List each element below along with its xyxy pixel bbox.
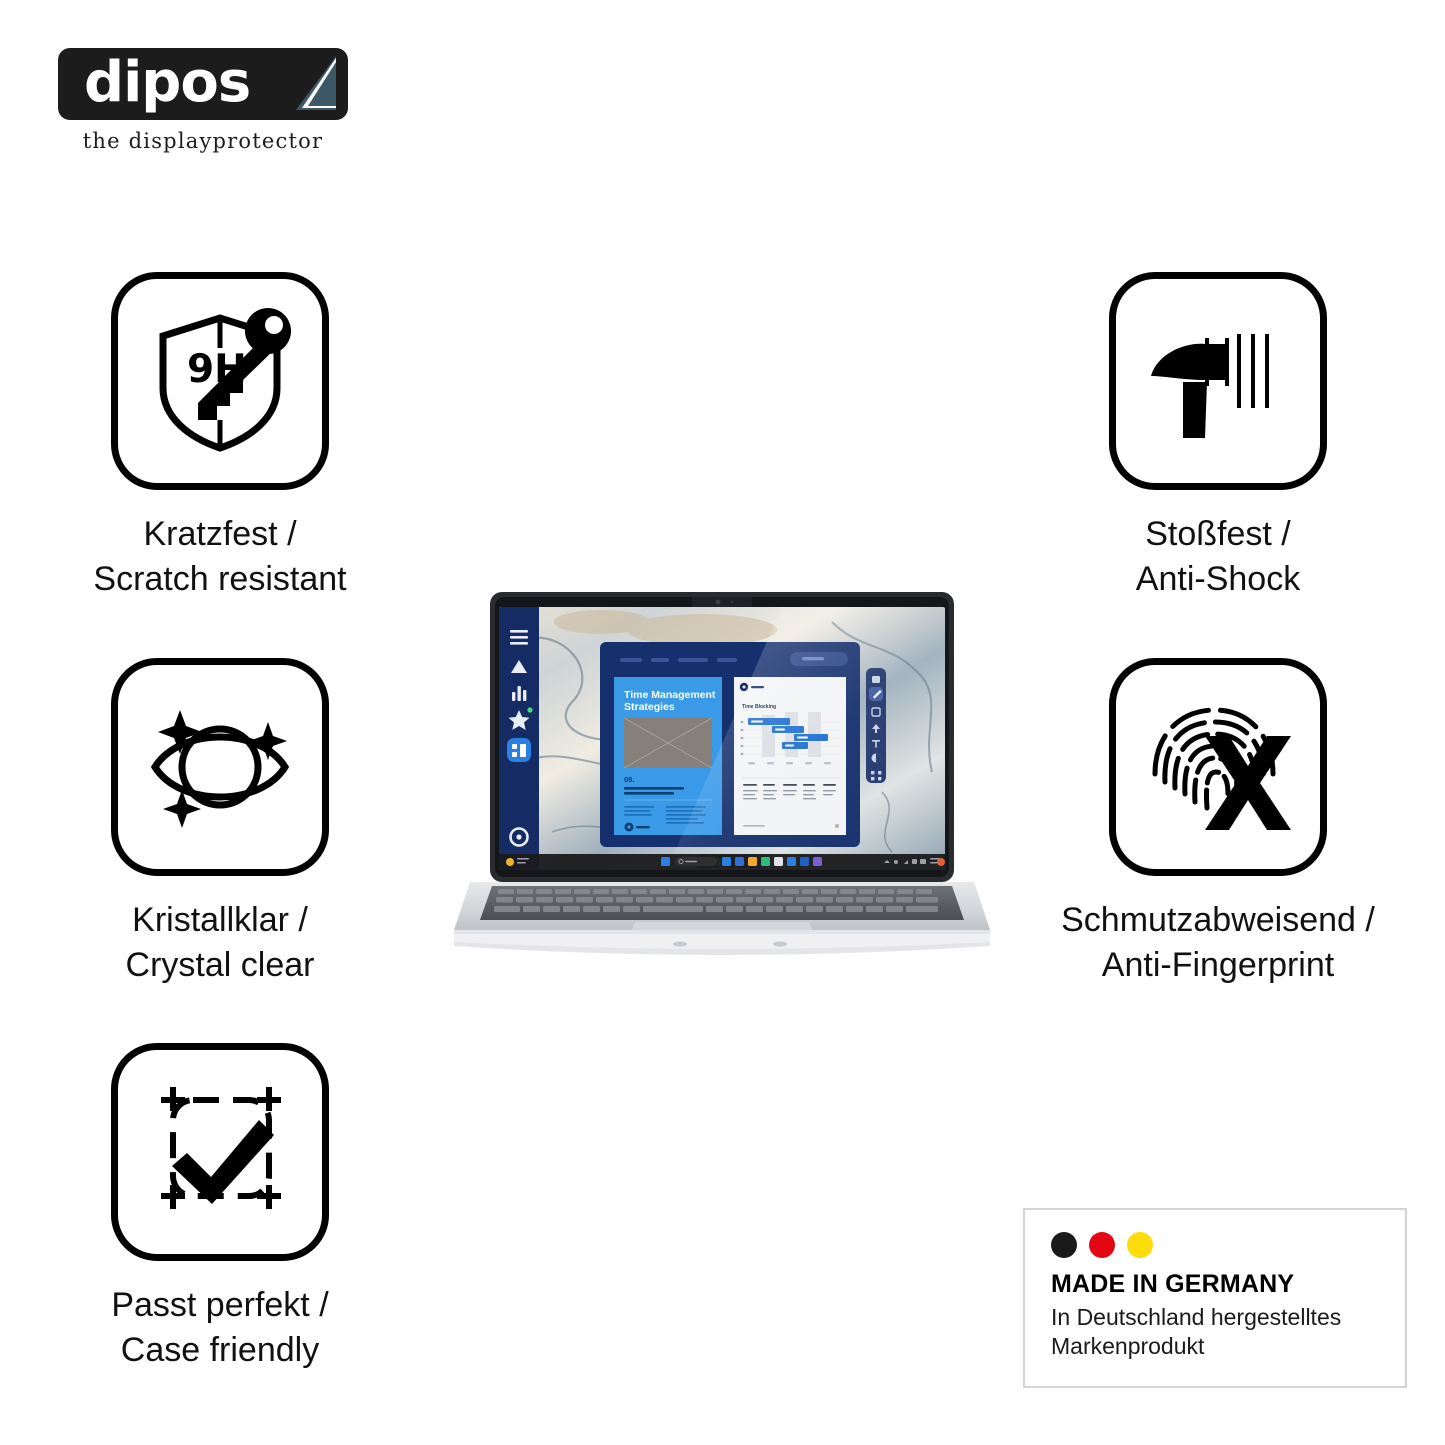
laptop-device: Time Management Strategies 09. [452,582,992,972]
feature-anti-fingerprint: Schmutzabweisend / Anti-Fingerprint [1023,658,1413,988]
feature-scratch-resistant: 9H Kratzfest / Scratch resistant [25,272,415,602]
product-feature-sheet: dipos the displayprotector 9H [0,0,1445,1445]
hammer-impact-icon [1133,296,1303,466]
feature-icon-frame [111,658,329,876]
feature-icon-frame [1109,272,1327,490]
made-in-germany-badge: MADE IN GERMANY In Deutschland hergestel… [1023,1208,1407,1388]
feature-anti-shock: Stoßfest / Anti-Shock [1023,272,1413,602]
svg-text:Time Management: Time Management [624,689,716,701]
germany-title: MADE IN GERMANY [1051,1270,1379,1299]
flag-dot-gold [1127,1232,1153,1258]
feature-label: Kristallklar / Crystal clear [126,898,315,988]
germany-subtitle: In Deutschland hergestelltes Markenprodu… [1051,1303,1379,1361]
checkmark-frame-icon [135,1067,305,1237]
feature-icon-frame [1109,658,1327,876]
laptop-illustration: Time Management Strategies 09. [452,582,992,972]
feature-icon-frame [111,1043,329,1261]
feature-case-friendly: Passt perfekt / Case friendly [25,1043,415,1373]
logo-wordmark: dipos [84,55,250,111]
svg-text:Strategies: Strategies [624,701,675,713]
page-peel-icon [280,52,342,116]
logo-tagline: the displayprotector [58,129,348,153]
svg-text:09.: 09. [624,775,634,784]
brand-logo: dipos the displayprotector [58,48,398,153]
flag-dot-black [1051,1232,1077,1258]
feature-crystal-clear: Kristallklar / Crystal clear [25,658,415,988]
feature-label: Stoßfest / Anti-Shock [1136,512,1300,602]
flag-dot-red [1089,1232,1115,1258]
eye-sparkle-icon [135,682,305,852]
logo-badge: dipos [58,48,348,120]
feature-label: Kratzfest / Scratch resistant [93,512,346,602]
shield-key-9h-icon: 9H [135,296,305,466]
feature-label: Passt perfekt / Case friendly [111,1283,328,1373]
feature-label: Schmutzabweisend / Anti-Fingerprint [1061,898,1375,988]
feature-icon-frame: 9H [111,272,329,490]
fingerprint-x-icon [1133,682,1303,852]
german-flag-dots [1051,1232,1379,1258]
